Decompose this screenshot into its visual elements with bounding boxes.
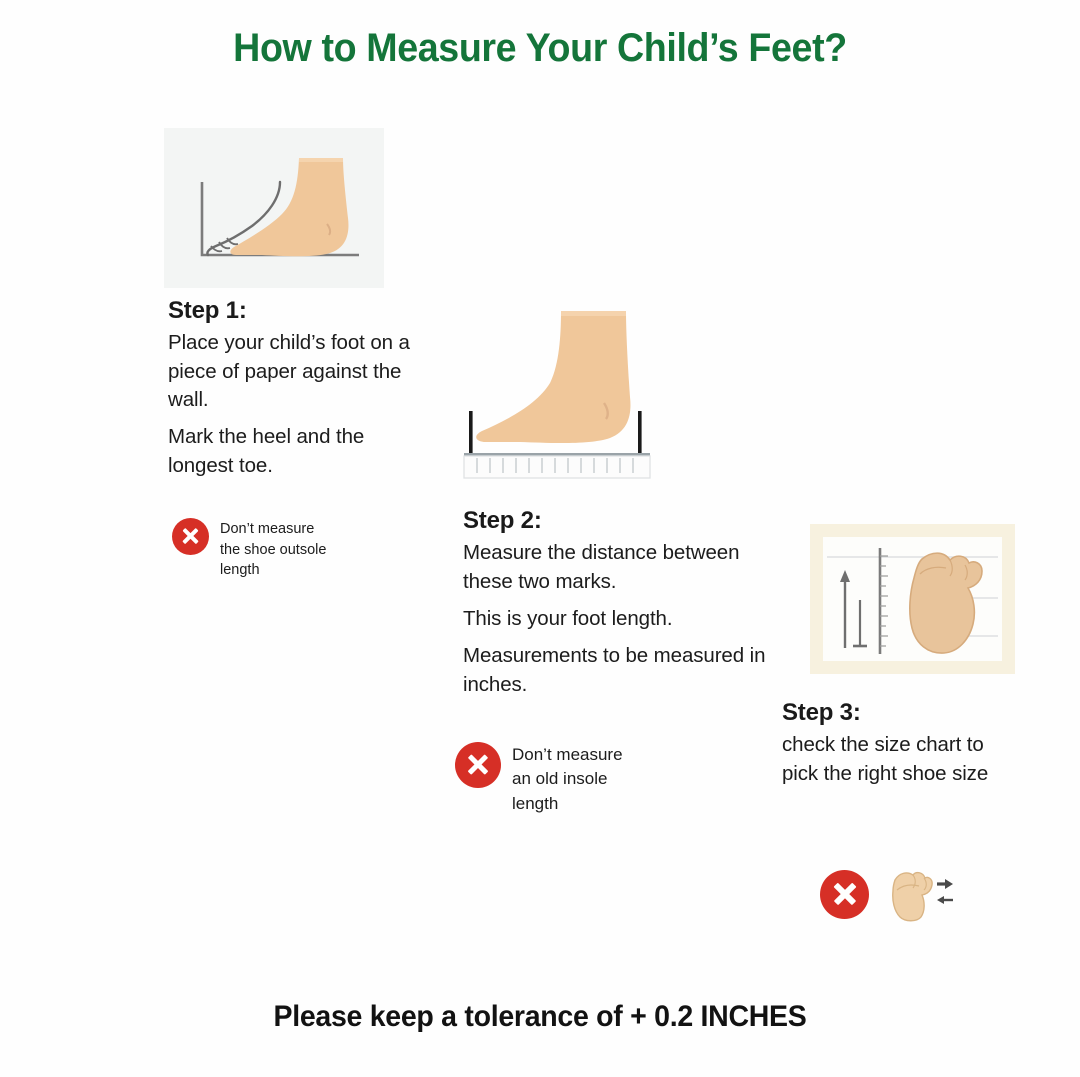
step-1-body: Place your child’s foot on a piece of pa… <box>168 329 418 479</box>
foot-profile-against-wall-icon <box>164 128 384 288</box>
step-3-warning <box>820 864 955 924</box>
step-2-body-line-1: Measure the distance between these two m… <box>463 539 783 596</box>
step-2-text-block: Step 2: Measure the distance between the… <box>463 508 783 699</box>
step-2-heading: Step 2: <box>463 508 783 534</box>
foot-sole-on-measuring-chart-icon <box>810 524 1015 674</box>
foot-width-arrows-icon <box>883 864 955 924</box>
red-x-circle-icon <box>172 518 209 555</box>
step-2-warning-text: Don’t measure an old insole length <box>512 742 623 816</box>
step-1-warning-line-2: the shoe outsole <box>220 540 326 561</box>
red-x-circle-icon <box>820 870 869 919</box>
step-1-warning-text: Don’t measure the shoe outsole length <box>220 518 326 581</box>
step-1-warning-line-3: length <box>220 560 326 581</box>
step-1-body-line-2: Mark the heel and the longest toe. <box>168 423 418 480</box>
step-3-text-block: Step 3: check the size chart to pick the… <box>782 700 1022 788</box>
foot-profile-with-ruler-icon <box>458 303 670 483</box>
step-2-illustration <box>458 303 670 483</box>
step-3-body: check the size chart to pick the right s… <box>782 731 1022 788</box>
step-2-warning: Don’t measure an old insole length <box>455 742 623 816</box>
step-2-body-line-2: This is your foot length. <box>463 605 783 633</box>
step-2-body-line-3: Measurements to be measured in inches. <box>463 642 783 699</box>
step-2-body: Measure the distance between these two m… <box>463 539 783 698</box>
step-1-illustration <box>164 128 384 288</box>
infographic-canvas: How to Measure Your Child’s Feet? Step 1… <box>0 0 1080 1077</box>
step-3-heading: Step 3: <box>782 700 1022 726</box>
step-1-warning: Don’t measure the shoe outsole length <box>172 518 326 581</box>
step-1-text-block: Step 1: Place your child’s foot on a pie… <box>168 298 418 480</box>
step-2-warning-line-2: an old insole <box>512 767 623 791</box>
step-3-body-line-1: check the size chart to pick the right s… <box>782 731 1022 788</box>
step-1-heading: Step 1: <box>168 298 418 324</box>
red-x-circle-icon <box>455 742 501 788</box>
step-1-warning-line-1: Don’t measure <box>220 519 326 540</box>
step-2-warning-line-1: Don’t measure <box>512 743 623 767</box>
tolerance-note: Please keep a tolerance of + 0.2 INCHES <box>27 1000 1053 1034</box>
page-title: How to Measure Your Child’s Feet? <box>32 26 1047 71</box>
step-3-illustration <box>810 524 1015 674</box>
step-2-warning-line-3: length <box>512 792 623 816</box>
step-1-body-line-1: Place your child’s foot on a piece of pa… <box>168 329 418 414</box>
